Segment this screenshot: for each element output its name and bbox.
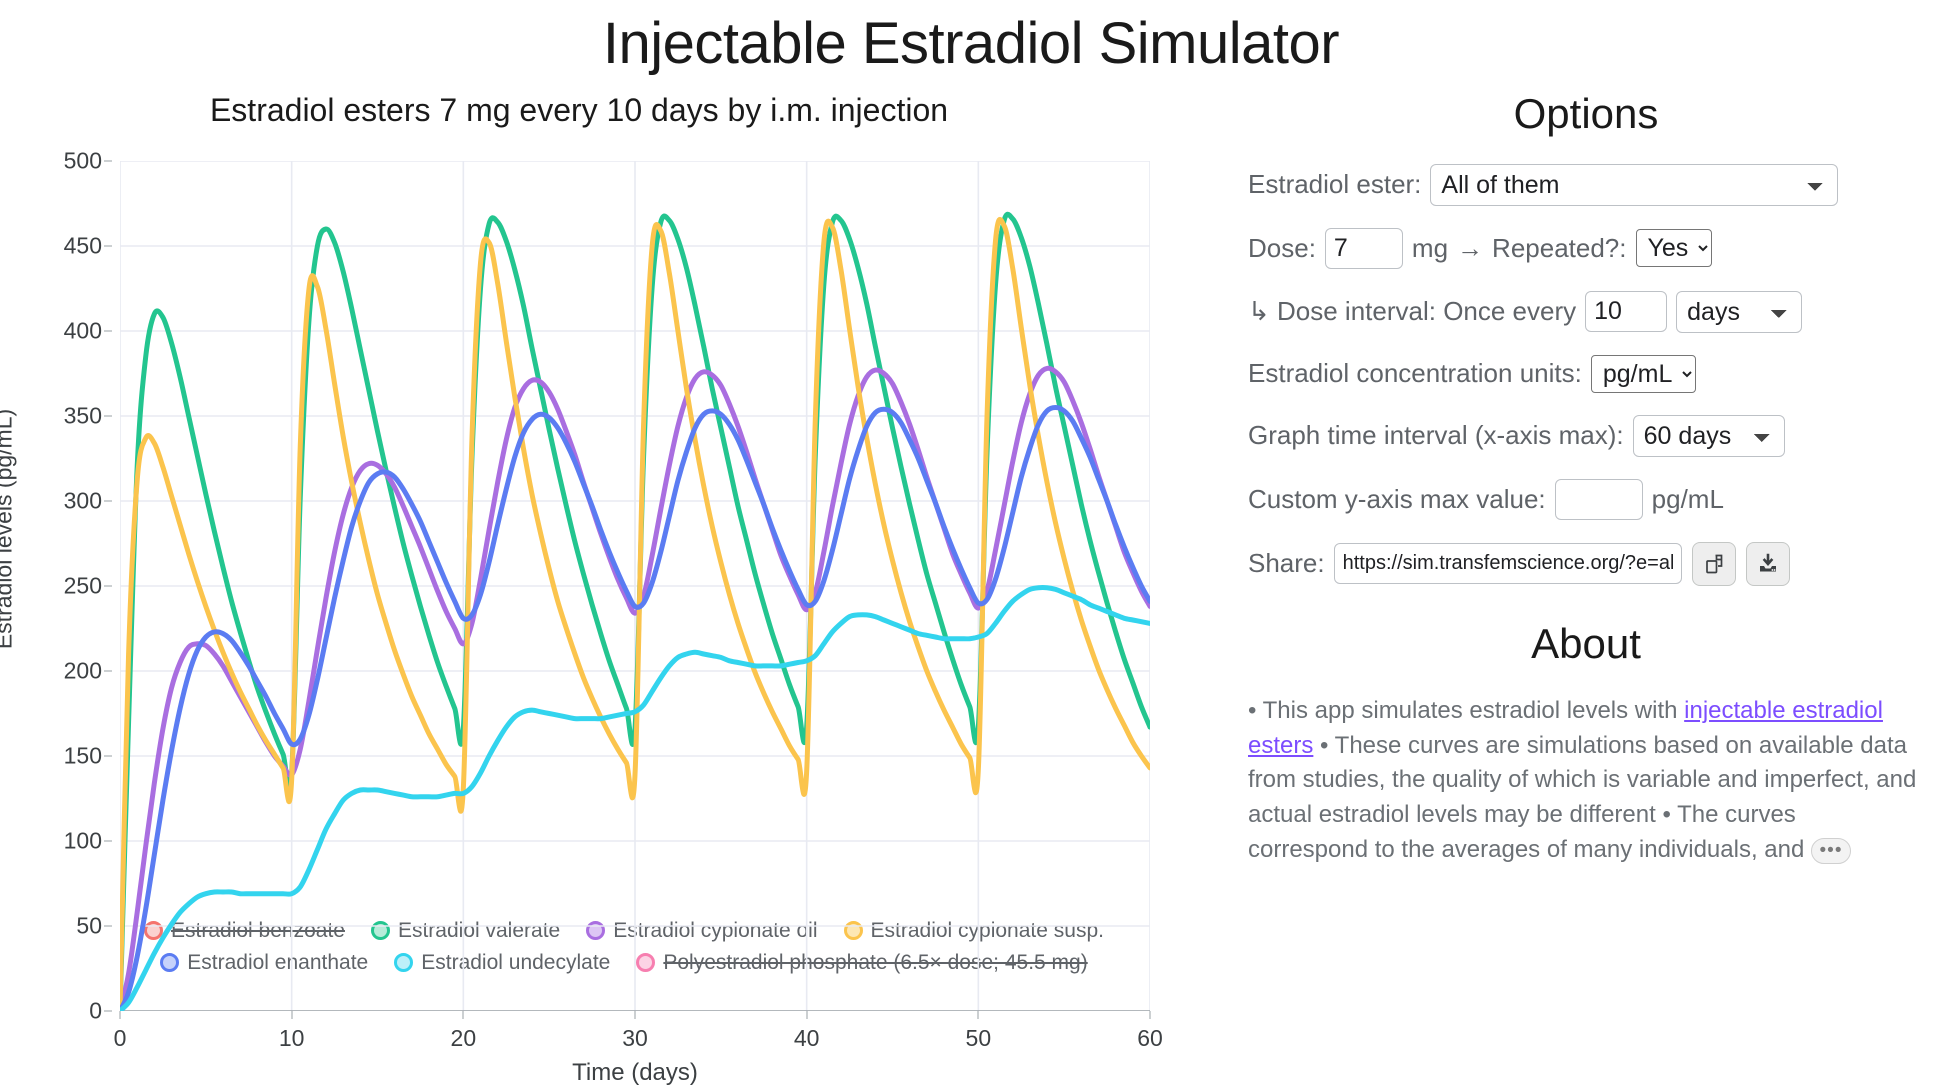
time-interval-label: Graph time interval (x-axis max):: [1248, 420, 1624, 451]
chart-pane: Estradiol esters 7 mg every 10 days by i…: [0, 76, 1230, 1066]
arrow-right-icon: →: [1457, 233, 1483, 264]
dose-input[interactable]: [1325, 228, 1403, 269]
y-tick-label: 250: [64, 572, 102, 599]
y-tick-mark: [104, 415, 112, 416]
share-url-input[interactable]: [1334, 543, 1682, 584]
x-tick-label: 0: [114, 1025, 127, 1052]
y-tick-label: 300: [64, 487, 102, 514]
custom-ymax-input[interactable]: [1555, 479, 1643, 520]
x-tick-mark: [635, 1011, 636, 1019]
y-axis-label: Estradiol levels (pg/mL): [0, 409, 18, 649]
y-tick-mark: [104, 925, 112, 926]
copy-icon-button[interactable]: [1692, 542, 1736, 586]
option-row-ester: Estradiol ester: All of them: [1230, 164, 1942, 206]
dose-interval-unit-select[interactable]: days: [1676, 291, 1802, 333]
download-icon-button[interactable]: [1746, 542, 1790, 586]
interval-label: ↳ Dose interval: Once every: [1248, 296, 1576, 327]
copy-icon: [1702, 552, 1726, 576]
units-label: Estradiol concentration units:: [1248, 358, 1582, 389]
y-tick-label: 350: [64, 402, 102, 429]
options-pane: Options Estradiol ester: All of them Dos…: [1230, 76, 1942, 1066]
show-more-button[interactable]: •••: [1811, 838, 1851, 864]
chart-svg: [120, 161, 1150, 1011]
x-tick-mark: [120, 1011, 121, 1019]
option-row-time-interval: Graph time interval (x-axis max): 60 day…: [1230, 415, 1942, 457]
x-tick-label: 40: [794, 1025, 820, 1052]
x-tick-mark: [291, 1011, 292, 1019]
option-row-share: Share:: [1230, 542, 1942, 586]
y-axis-ticks: 050100150200250300350400450500: [40, 129, 112, 869]
about-heading: About: [1230, 620, 1942, 668]
concentration-units-select[interactable]: pg/mL: [1591, 355, 1696, 393]
option-row-ymax: Custom y-axis max value: pg/mL: [1230, 479, 1942, 520]
option-row-units: Estradiol concentration units: pg/mL: [1230, 355, 1942, 393]
option-row-dose: Dose: mg → Repeated?: Yes: [1230, 228, 1942, 269]
dose-label: Dose:: [1248, 233, 1316, 264]
y-tick-label: 200: [64, 657, 102, 684]
y-tick-mark: [104, 755, 112, 756]
y-tick-mark: [104, 1010, 112, 1011]
x-tick-mark: [1150, 1011, 1151, 1019]
x-tick-label: 60: [1137, 1025, 1163, 1052]
x-tick-label: 50: [966, 1025, 992, 1052]
chart-title: Estradiol esters 7 mg every 10 days by i…: [0, 92, 1230, 129]
x-tick-mark: [978, 1011, 979, 1019]
x-tick-label: 30: [622, 1025, 648, 1052]
about-body: • This app simulates estradiol levels wi…: [1230, 694, 1942, 868]
x-axis-label: Time (days): [120, 1059, 1150, 1085]
repeated-label: Repeated?:: [1492, 233, 1626, 264]
y-tick-label: 0: [89, 997, 102, 1024]
y-tick-label: 50: [76, 912, 102, 939]
main-layout: Estradiol esters 7 mg every 10 days by i…: [0, 76, 1942, 1066]
ymax-label: Custom y-axis max value:: [1248, 484, 1546, 515]
plot-area: [120, 161, 1150, 1011]
x-tick-mark: [463, 1011, 464, 1019]
y-tick-mark: [104, 840, 112, 841]
option-row-interval: ↳ Dose interval: Once every days: [1230, 291, 1942, 333]
share-label: Share:: [1248, 548, 1325, 579]
y-tick-label: 500: [64, 147, 102, 174]
page-title: Injectable Estradiol Simulator: [0, 12, 1942, 76]
estradiol-ester-select[interactable]: All of them: [1430, 164, 1838, 206]
download-icon: [1756, 552, 1780, 576]
y-tick-mark: [104, 330, 112, 331]
ester-label: Estradiol ester:: [1248, 169, 1421, 200]
x-tick-label: 20: [451, 1025, 477, 1052]
x-tick-label: 10: [279, 1025, 305, 1052]
y-tick-label: 400: [64, 317, 102, 344]
y-tick-label: 150: [64, 742, 102, 769]
ymax-unit: pg/mL: [1652, 484, 1724, 515]
y-tick-mark: [104, 585, 112, 586]
y-tick-label: 450: [64, 232, 102, 259]
repeated-select[interactable]: Yes: [1636, 229, 1712, 267]
y-tick-mark: [104, 160, 112, 161]
x-tick-mark: [806, 1011, 807, 1019]
y-tick-label: 100: [64, 827, 102, 854]
y-tick-mark: [104, 500, 112, 501]
plot-wrapper: Estradiol levels (pg/mL) 050100150200250…: [0, 129, 1230, 919]
options-heading: Options: [1230, 90, 1942, 138]
y-tick-mark: [104, 245, 112, 246]
y-tick-mark: [104, 670, 112, 671]
x-axis-ticks: 0102030405060: [120, 1019, 1150, 1059]
dose-unit: mg: [1412, 233, 1448, 264]
dose-interval-input[interactable]: [1585, 291, 1667, 332]
about-text-1: • This app simulates estradiol levels wi…: [1248, 697, 1684, 724]
graph-time-interval-select[interactable]: 60 days: [1633, 415, 1785, 457]
